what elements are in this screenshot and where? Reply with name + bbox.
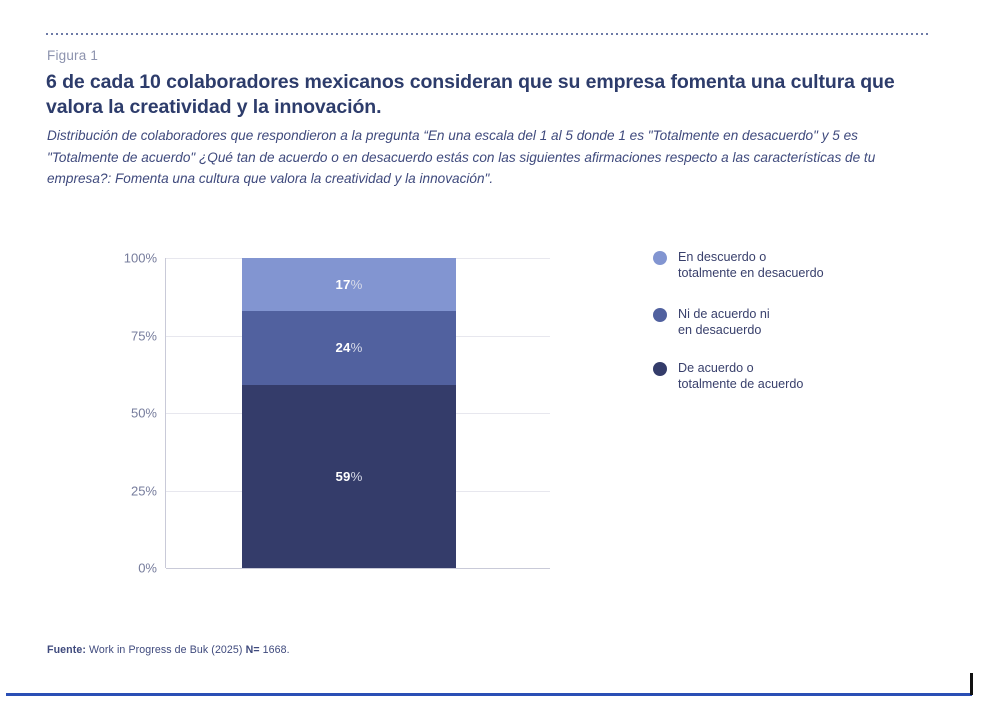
legend-item-en-desacuerdo[interactable]: En descuerdo o totalmente en desacuerdo [653,250,824,281]
percent-sign: % [351,277,363,292]
page-title: 6 de cada 10 colaboradores mexicanos con… [46,70,906,120]
percent-sign: % [351,340,363,355]
y-tick-label-50: 50% [131,406,157,421]
footer-accent-rule [6,693,972,696]
bar-segment-label-24: 24% [335,340,362,355]
bar-segment-en-desacuerdo[interactable]: 17% [242,258,456,311]
source-n-label: N= [246,644,260,656]
top-dotted-divider [46,33,928,35]
legend-swatch-icon-light [653,251,667,265]
legend-label-en-desacuerdo: En descuerdo o totalmente en desacuerdo [678,250,824,281]
bar-value-59: 59 [335,469,350,484]
percent-sign: % [351,469,363,484]
y-tick-label-0: 0% [138,561,157,576]
source-prefix: Fuente: [47,644,86,656]
legend-label-ni-acuerdo: Ni de acuerdo ni en desacuerdo [678,307,770,338]
y-tick-label-25: 25% [131,483,157,498]
source-note: Fuente: Work in Progress de Buk (2025) N… [47,644,290,656]
chart-plot-area: 100% 75% 50% 25% 0% 17% 24% 59% [166,258,550,568]
bar-segment-label-17: 17% [335,277,362,292]
bar-segment-de-acuerdo[interactable]: 59% [242,385,456,568]
bar-value-24: 24 [335,340,350,355]
footer-corner-tick [970,673,973,695]
legend-swatch-icon-dark [653,362,667,376]
bar-segment-ni-acuerdo-ni-desacuerdo[interactable]: 24% [242,311,456,385]
legend-item-de-acuerdo[interactable]: De acuerdo o totalmente de acuerdo [653,361,803,392]
gridline-0-baseline [166,568,550,569]
legend-swatch-icon-mid [653,308,667,322]
figure-label: Figura 1 [47,48,98,63]
bar-segment-label-59: 59% [335,469,362,484]
bar-value-17: 17 [335,277,350,292]
source-text: Work in Progress de Buk (2025) [86,644,246,656]
legend-label-de-acuerdo: De acuerdo o totalmente de acuerdo [678,361,803,392]
y-tick-label-75: 75% [131,328,157,343]
figure-subtitle: Distribución de colaboradores que respon… [47,125,907,190]
source-n-value: 1668. [260,644,290,656]
y-tick-label-100: 100% [124,251,157,266]
legend-item-ni-acuerdo[interactable]: Ni de acuerdo ni en desacuerdo [653,307,770,338]
stacked-bar[interactable]: 17% 24% 59% [242,258,456,568]
